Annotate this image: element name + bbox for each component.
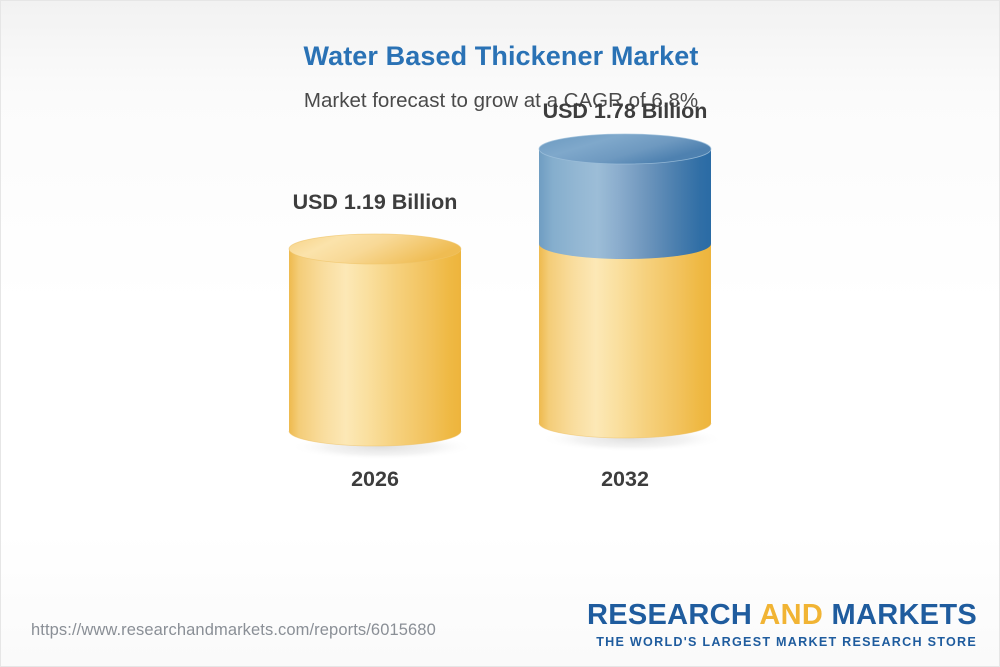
brand-logo-wordmark: RESEARCH AND MARKETS (587, 601, 977, 630)
brand-logo-tagline: THE WORLD'S LARGEST MARKET RESEARCH STOR… (587, 635, 977, 649)
bar-value-label-2032: USD 1.78 Billion (539, 99, 711, 124)
brand-logo-and: AND (759, 599, 831, 631)
brand-logo[interactable]: RESEARCH AND MARKETS THE WORLD'S LARGEST… (587, 601, 977, 649)
chart-canvas: Water Based Thickener Market Market fore… (0, 0, 1000, 667)
plot-area: USD 1.19 Billion (1, 1, 1000, 601)
source-url[interactable]: https://www.researchandmarkets.com/repor… (31, 621, 436, 640)
bar-group-2032: USD 1.78 Billion (539, 0, 711, 601)
brand-logo-markets: MARKETS (832, 599, 978, 631)
bar-category-label-2026: 2026 (289, 467, 461, 492)
bar-group-2026: USD 1.19 Billion (289, 0, 461, 601)
bar-cylinder-2026[interactable] (279, 232, 471, 462)
brand-logo-research: RESEARCH (587, 599, 759, 631)
bar-cylinder-2032[interactable] (529, 132, 721, 454)
bar-category-label-2032: 2032 (539, 467, 711, 492)
bar-value-label-2026: USD 1.19 Billion (289, 190, 461, 215)
